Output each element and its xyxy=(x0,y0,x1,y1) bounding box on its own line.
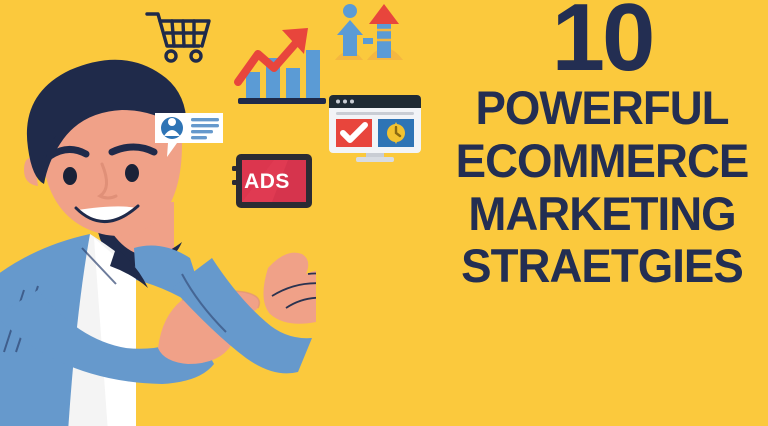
headline-line-1: POWERFUL xyxy=(441,82,763,135)
headline-line-4: STRAETGIES xyxy=(441,240,763,293)
headline-line-3: MARKETING xyxy=(441,188,763,241)
headline-number: 10 xyxy=(436,0,768,82)
shopping-cart-icon xyxy=(143,6,213,66)
testimonial-speech-bubble-icon xyxy=(151,109,227,161)
website-monitor-check-icon xyxy=(326,93,424,165)
bar-chart-growth-icon xyxy=(232,26,328,110)
poster-canvas: ADS 10 POWERFUL ECOMMERCE MARKETING STRA… xyxy=(0,0,768,426)
people-growth-arrows-icon xyxy=(333,2,405,64)
ads-tablet-icon: ADS xyxy=(228,152,318,210)
headline-line-2: ECOMMERCE xyxy=(441,135,763,188)
headline-block: 10 POWERFUL ECOMMERCE MARKETING STRAETGI… xyxy=(436,0,768,293)
